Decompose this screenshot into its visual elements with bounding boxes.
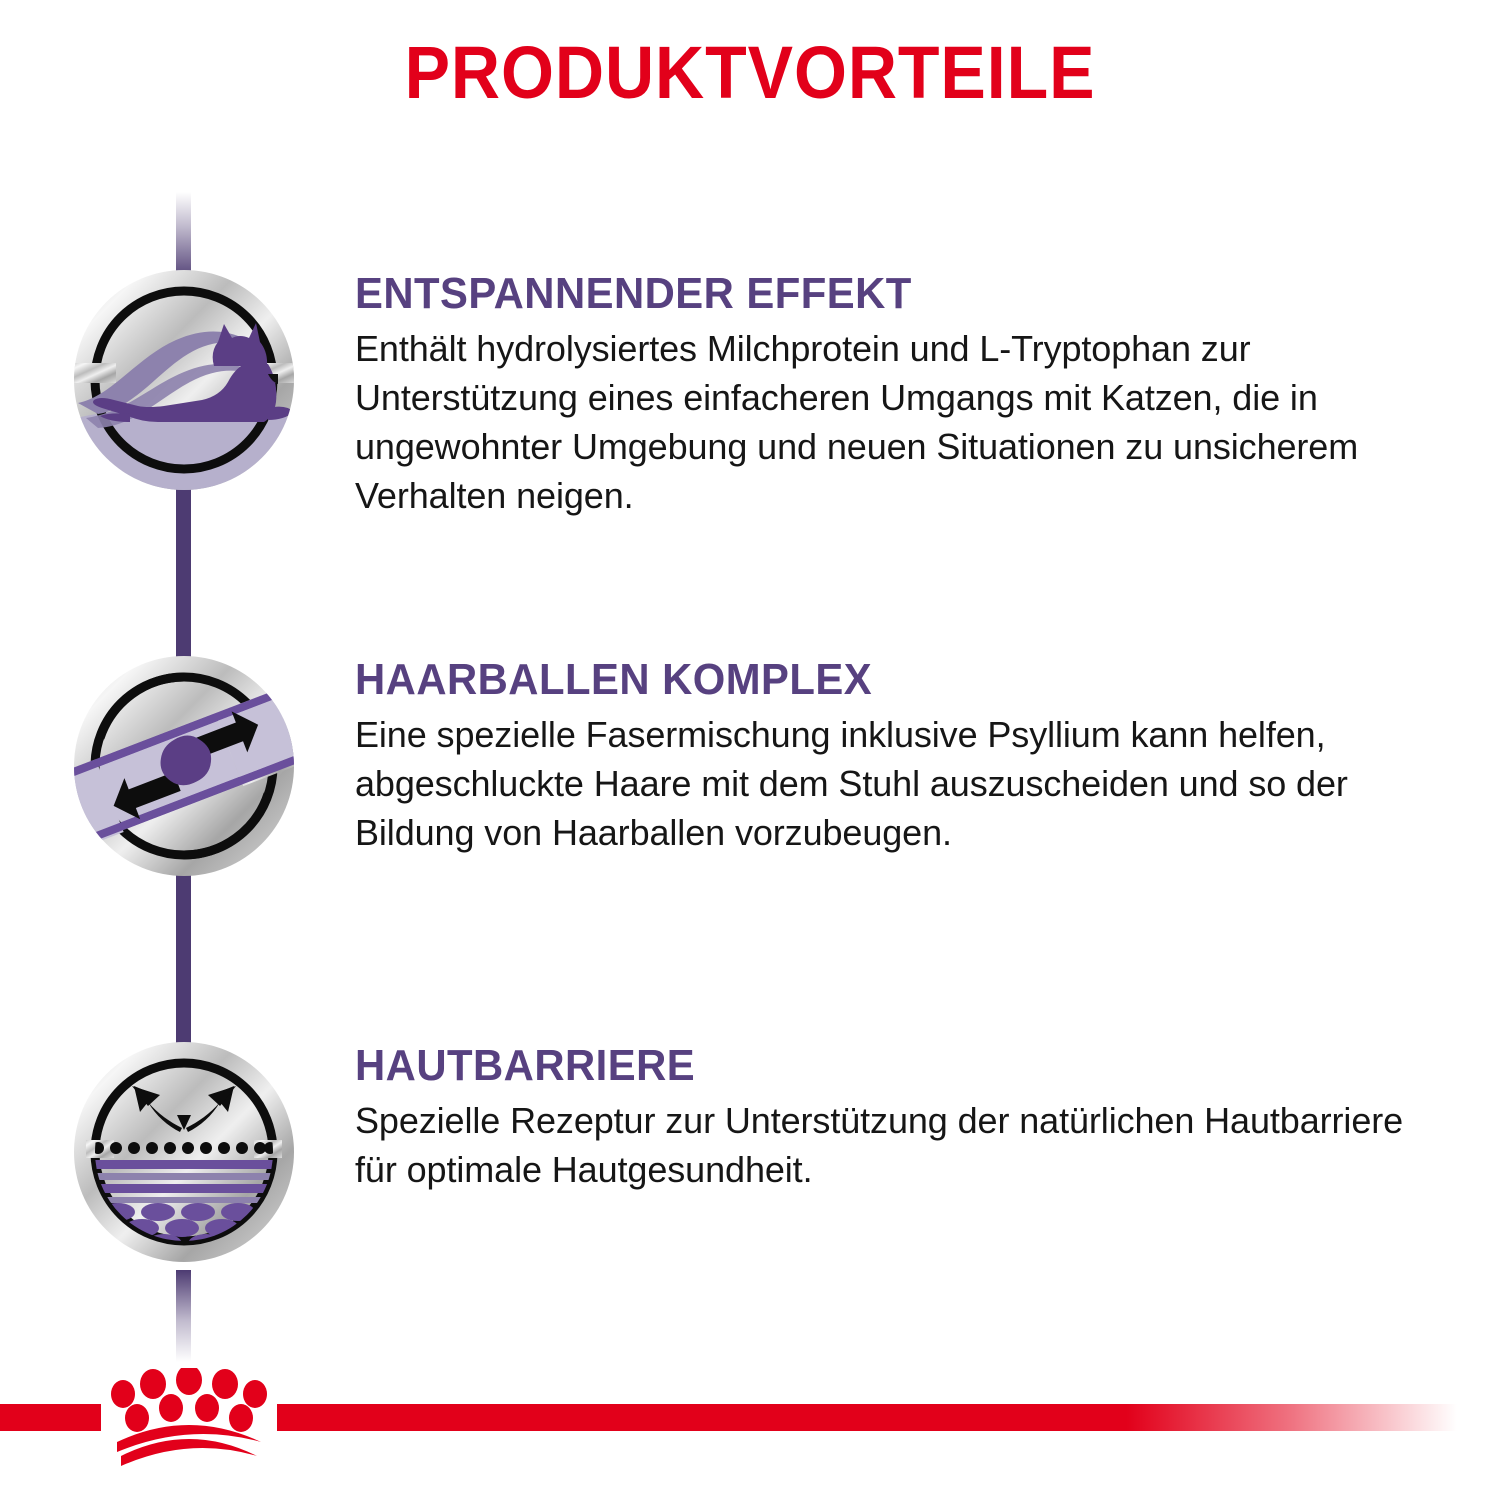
benefit-body: Spezielle Rezeptur zur Unterstützung der…: [355, 1096, 1435, 1195]
page-title: PRODUKTVORTEILE: [60, 36, 1440, 110]
footer-bar-left: [0, 1404, 101, 1431]
hairball-complex-icon: [72, 654, 296, 878]
benefit-heading: HAUTBARRIERE: [355, 1042, 1381, 1090]
benefit-text-block: ENTSPANNENDER EFFEKT Enthält hydrolysier…: [355, 270, 1435, 521]
connector-line-segment-2: [176, 872, 191, 1052]
royal-canin-crown-logo: [101, 1368, 277, 1472]
connector-line-segment-1: [176, 486, 191, 668]
footer-bar-right: [277, 1404, 1457, 1431]
relaxed-cat-icon: [72, 268, 296, 492]
benefit-text-block: HAARBALLEN KOMPLEX Eine spezielle Faserm…: [355, 656, 1435, 857]
connector-line-bottom: [176, 1270, 191, 1362]
skin-barrier-icon: [72, 1040, 296, 1264]
benefit-text-block: HAUTBARRIERE Spezielle Rezeptur zur Unte…: [355, 1042, 1435, 1194]
benefit-body: Enthält hydrolysiertes Milchprotein und …: [355, 324, 1435, 521]
benefit-body: Eine spezielle Fasermischung inklusive P…: [355, 710, 1435, 858]
product-benefits-page: PRODUKTVORTEILE: [0, 0, 1500, 1500]
benefit-heading: HAARBALLEN KOMPLEX: [355, 656, 1381, 704]
benefit-heading: ENTSPANNENDER EFFEKT: [355, 270, 1381, 318]
